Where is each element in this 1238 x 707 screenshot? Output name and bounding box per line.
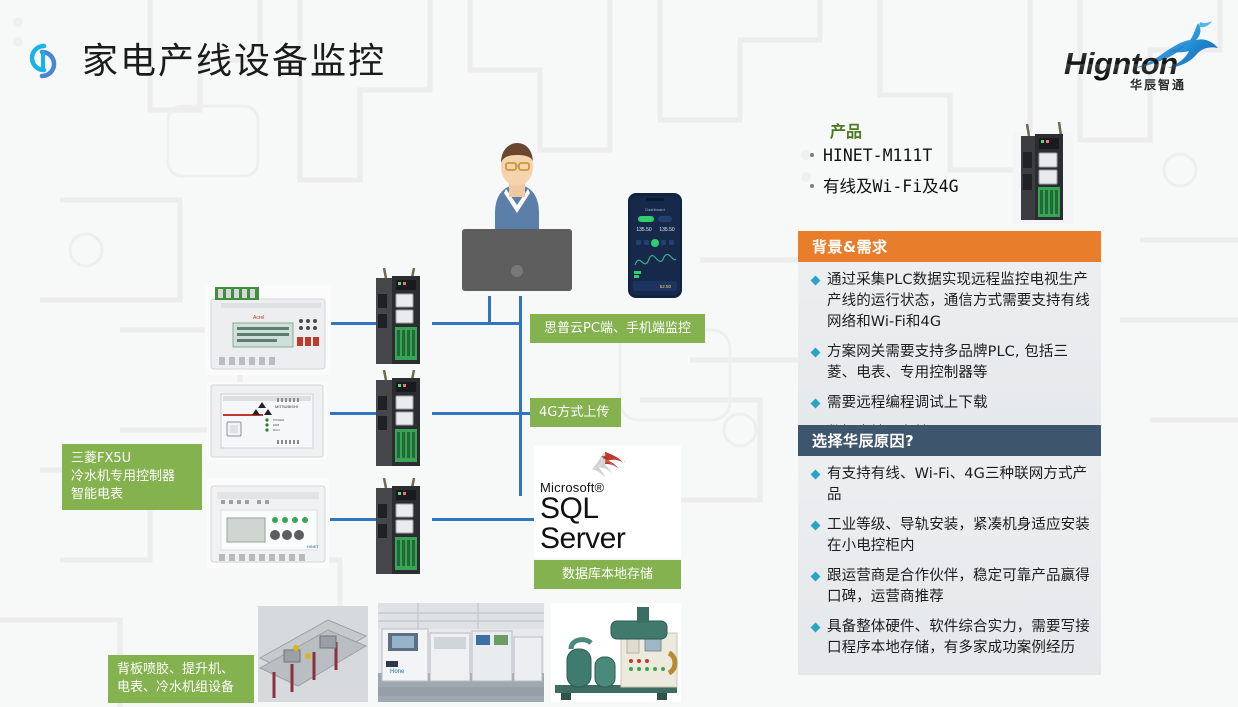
svg-text:Hone: Hone — [390, 669, 405, 675]
diamond-bullet-icon — [811, 348, 821, 358]
panel-background-requirements: 背景&需求 通过采集PLC数据实现远程监控电视生产产线的运行状态，通信方式需要支… — [798, 231, 1101, 456]
panel-why-hignton: 选择华辰原因? 有支持有线、Wi-Fi、4G三种联网方式产品 工业等级、导轨安装… — [798, 425, 1101, 675]
panel-body-why: 有支持有线、Wi-Fi、4G三种联网方式产品 工业等级、导轨安装，紧凑机身适应安… — [798, 456, 1101, 675]
gateway-1 — [374, 268, 424, 368]
diamond-bullet-icon — [811, 572, 821, 582]
bullet-item: 需要远程编程调试上下载 — [806, 393, 1091, 414]
svg-text:135.50: 135.50 — [636, 227, 652, 233]
photo-production-line: Hone — [378, 603, 544, 702]
svg-text:MITSUBISHI: MITSUBISHI — [275, 404, 298, 409]
link-4g-horizontal — [432, 412, 532, 415]
bullet-item: 通过采集PLC数据实现远程监控电视生产产线的运行状态，通信方式需要支持有线网络和… — [806, 270, 1091, 333]
photo-conveyor-cad — [258, 606, 368, 702]
device-smart-energy-meter: Acrel — [205, 285, 331, 375]
link-cloud-horizontal — [432, 322, 522, 325]
product-item-0: HINET-M111T — [808, 146, 932, 165]
svg-text:52.50: 52.50 — [660, 284, 672, 289]
sql-server-label: SQL Server — [540, 494, 675, 554]
bullet-dot-icon — [810, 153, 814, 157]
brand-logo: Hignton 华辰智通 — [1058, 18, 1230, 96]
svg-text:POWER: POWER — [273, 418, 285, 422]
page-title: 家电产线设备监控 — [82, 32, 386, 84]
label-field-devices: 三菱FX5U 冷水机专用控制器 智能电表 — [62, 444, 202, 510]
product-title: 产品 — [830, 118, 862, 142]
photo-chiller-unit: HELWER — [551, 603, 681, 702]
diamond-bullet-icon — [811, 623, 821, 633]
link-laptop-trunk — [519, 296, 522, 496]
diamond-bullet-icon — [811, 521, 821, 531]
product-device-image — [1013, 122, 1073, 226]
svg-text:RUN: RUN — [273, 428, 280, 432]
svg-text:™: ™ — [623, 461, 625, 463]
label-line-equipment: 背板喷胶、提升机、 电表、冷水机组设备 — [108, 655, 254, 703]
diamond-bullet-icon — [811, 276, 821, 286]
product-item-1: 有线及Wi-Fi及4G — [808, 173, 959, 197]
svg-text:Dashboard: Dashboard — [645, 207, 665, 212]
slide-header: 家电产线设备监控 Hignton 华辰智通 — [0, 0, 1238, 100]
link-db-horizontal — [432, 518, 537, 521]
svg-text:135.50: 135.50 — [659, 227, 675, 233]
brand-chinese-name: 华辰智通 — [1130, 76, 1186, 93]
svg-text:HINET: HINET — [307, 544, 320, 549]
svg-text:Acrel: Acrel — [253, 315, 264, 321]
bullet-dot-icon — [810, 184, 814, 188]
panel-title-background: 背景&需求 — [798, 231, 1101, 262]
label-cloud-monitor: 思普云PC端、手机端监控 — [530, 314, 705, 343]
sql-server-text: Microsoft® SQL Server — [534, 481, 681, 558]
diamond-bullet-icon — [811, 399, 821, 409]
mobile-dashboard-illustration: Dashboard 135.50 135.50 52.50 — [628, 193, 682, 298]
bullet-item: 跟运营商是合作伙伴，稳定可靠产品赢得口碑，运营商推荐 — [806, 566, 1091, 608]
bullet-item: 工业等级、导轨安装，紧凑机身适应安装在小电控柜内 — [806, 515, 1091, 557]
operator-at-laptop-illustration — [462, 133, 572, 298]
device-chiller-controller: HINET — [207, 478, 329, 568]
gateway-2 — [374, 370, 424, 470]
sql-server-mark-icon: ™ — [553, 450, 663, 481]
bullet-item: 方案网关需要支持多品牌PLC, 包括三菱、电表、专用控制器等 — [806, 342, 1091, 384]
device-mitsubishi-fx5u-plc: MITSUBISHI POWERERRRUN — [207, 382, 327, 460]
link-laptop-down — [488, 296, 491, 324]
svg-text:ERR: ERR — [273, 423, 280, 427]
label-upload-4g: 4G方式上传 — [530, 398, 621, 427]
bullet-item: 具备整体硬件、软件综合实力，需要写接口程序本地存储，有多家成功案例经历 — [806, 617, 1091, 659]
bullet-item: 有支持有线、Wi-Fi、4G三种联网方式产品 — [806, 464, 1091, 506]
panel-title-why: 选择华辰原因? — [798, 425, 1101, 456]
diamond-bullet-icon — [811, 470, 821, 480]
label-db-local-storage: 数据库本地存储 — [534, 560, 681, 589]
slide-canvas: 家电产线设备监控 Hignton 华辰智通 — [0, 0, 1238, 707]
gateway-3 — [374, 478, 424, 578]
sql-server-logo: ™ Microsoft® SQL Server — [534, 446, 681, 558]
hignton-loop-logo-icon — [18, 36, 68, 86]
